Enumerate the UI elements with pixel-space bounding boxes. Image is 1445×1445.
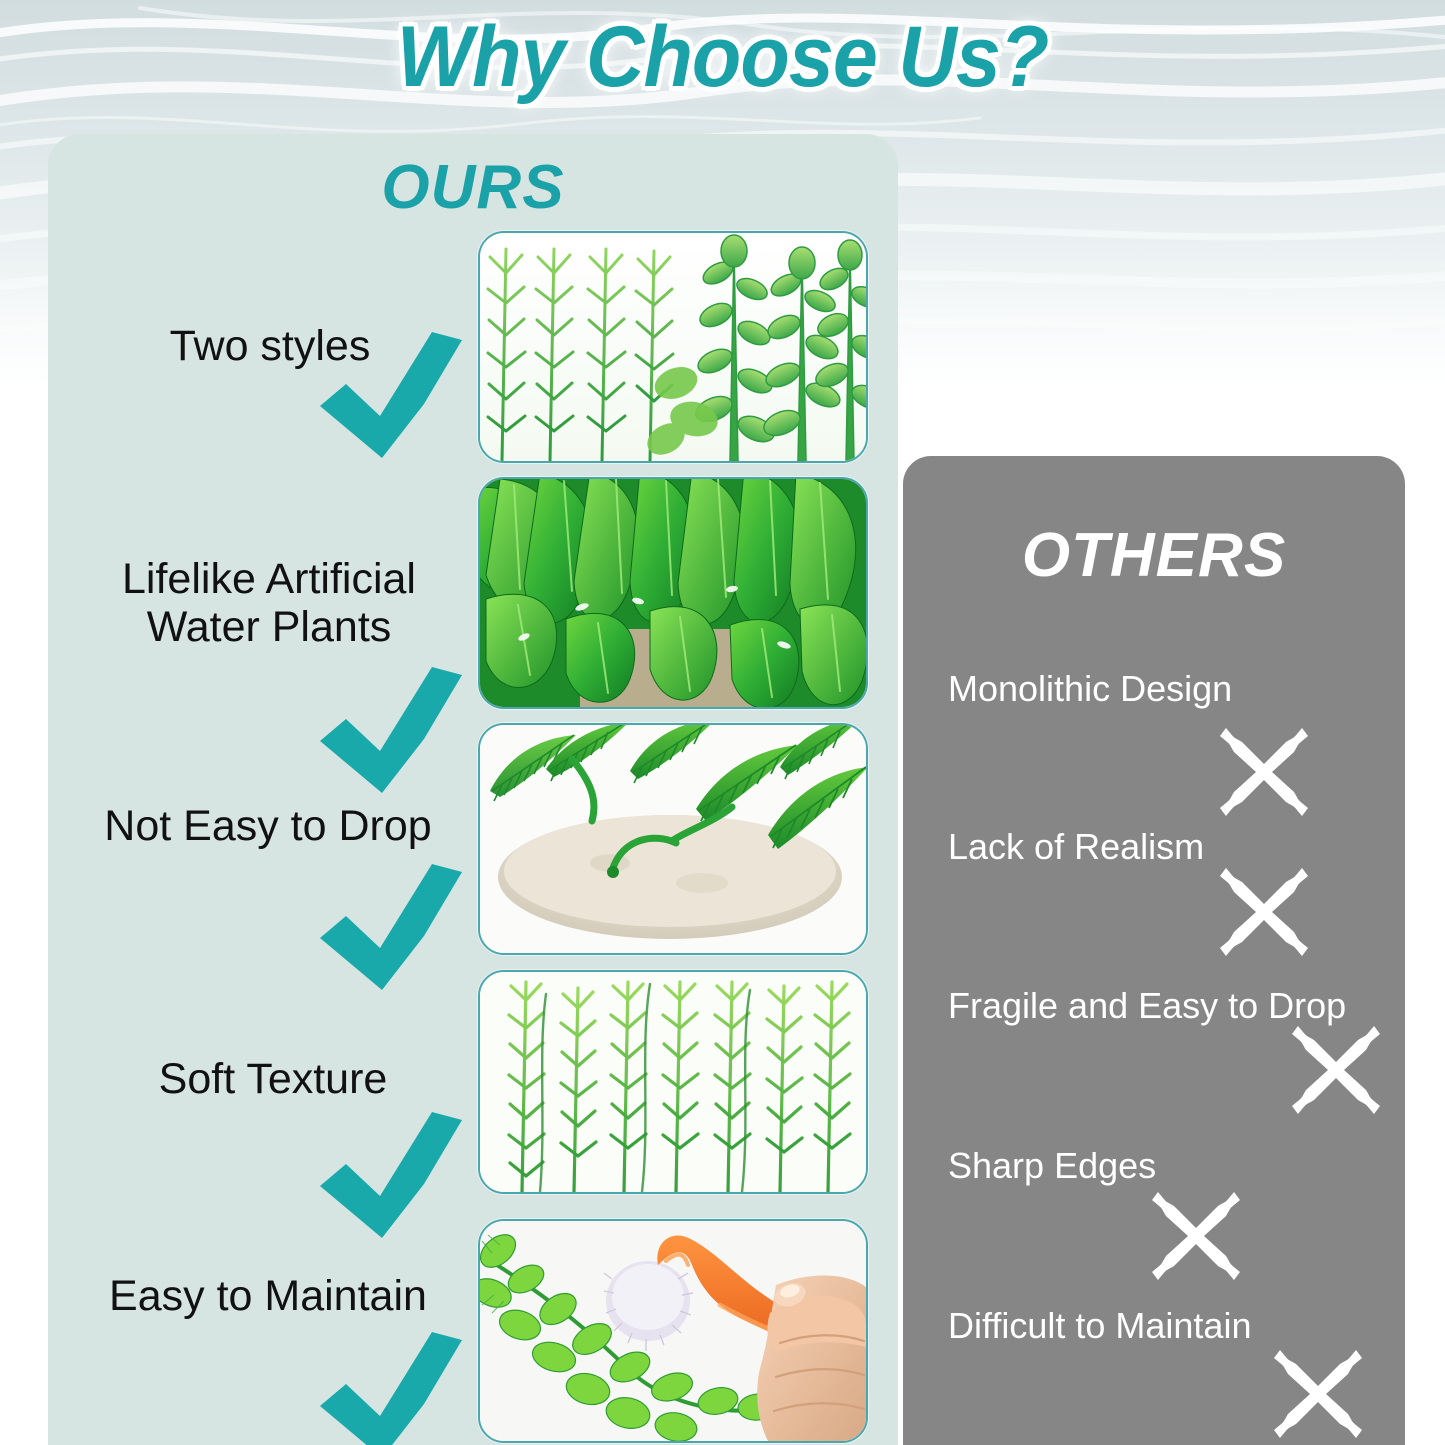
ours-photo-3	[478, 723, 868, 955]
x-icon	[1150, 1190, 1242, 1282]
others-item-label-1: Monolithic Design	[948, 668, 1232, 709]
ours-item-label-3: Not Easy to Drop	[78, 802, 458, 850]
others-panel	[903, 456, 1405, 1445]
ours-heading: OURS	[48, 152, 898, 223]
others-item-label-3: Fragile and Easy to Drop	[948, 985, 1346, 1026]
ours-photo-1	[478, 231, 868, 463]
ours-photo-4	[478, 970, 868, 1194]
check-icon	[316, 665, 466, 797]
check-icon	[316, 330, 466, 462]
others-heading: OTHERS	[903, 520, 1405, 591]
infographic-canvas: Why Choose Us? OURS OTHERS Two styles	[0, 0, 1445, 1445]
x-icon	[1290, 1024, 1382, 1116]
others-item-label-2: Lack of Realism	[948, 826, 1204, 867]
check-icon	[316, 1330, 466, 1445]
ours-item-label-5: Easy to Maintain	[76, 1272, 460, 1320]
check-icon	[316, 1110, 466, 1242]
ours-item-label-2: Lifelike Artificial Water Plants	[80, 555, 458, 651]
check-icon	[316, 862, 466, 994]
ours-photo-5	[478, 1219, 868, 1443]
x-icon	[1218, 866, 1310, 958]
x-icon	[1272, 1348, 1364, 1440]
others-item-label-5: Difficult to Maintain	[948, 1305, 1251, 1346]
others-item-label-4: Sharp Edges	[948, 1145, 1156, 1186]
page-title: Why Choose Us?	[43, 8, 1401, 107]
ours-photo-2	[478, 477, 868, 709]
ours-item-label-4: Soft Texture	[118, 1055, 428, 1103]
x-icon	[1218, 726, 1310, 818]
